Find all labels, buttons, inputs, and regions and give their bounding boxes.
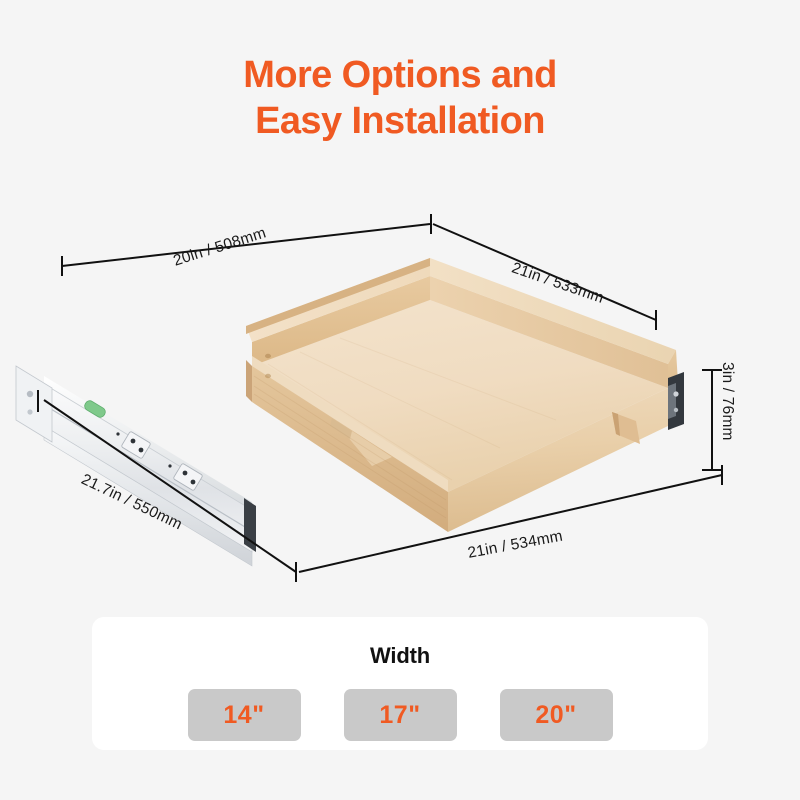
drawer-front-left-endcap — [246, 360, 252, 402]
dimension-label-right-height: 3in / 76mm — [718, 362, 736, 441]
drawer-screw-hole-1 — [265, 354, 271, 358]
slide-rail-end-bracket — [16, 366, 52, 442]
product-illustration — [0, 180, 800, 600]
headline-line-2: Easy Installation — [0, 98, 800, 144]
headline-line-1: More Options and — [0, 52, 800, 98]
width-selector-title: Width — [92, 643, 708, 669]
width-option-20[interactable]: 20" — [500, 689, 613, 741]
width-option-group: 14" 17" 20" — [92, 689, 708, 741]
width-option-17[interactable]: 17" — [344, 689, 457, 741]
page-title: More Options and Easy Installation — [0, 52, 800, 145]
drawer-box — [246, 258, 680, 532]
slide-rail-left — [16, 366, 256, 566]
width-option-14[interactable]: 14" — [188, 689, 301, 741]
width-selector-card: Width 14" 17" 20" — [92, 617, 708, 750]
slide-rail-right-highlight — [668, 383, 676, 419]
slide-rail-right-pin-2 — [674, 408, 678, 412]
slide-rail-right-bracket — [668, 372, 684, 430]
slide-rail-right-pin — [673, 391, 678, 396]
slide-rail-bracket-hole-1 — [27, 391, 33, 397]
infographic-canvas: More Options and Easy Installation — [0, 0, 800, 800]
slide-rail-bracket-hole-2 — [27, 409, 32, 414]
drawer-screw-hole-2 — [265, 374, 271, 378]
